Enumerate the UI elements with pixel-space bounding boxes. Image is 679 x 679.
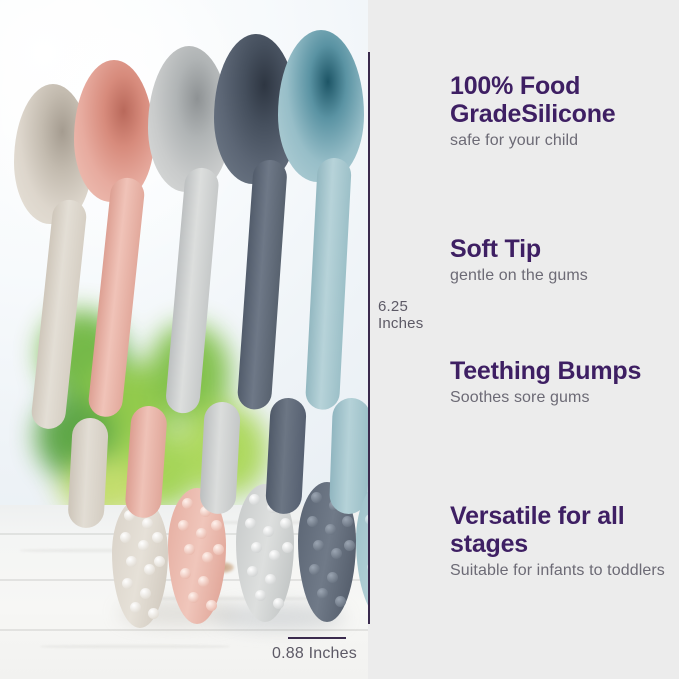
spoon-bowl xyxy=(278,30,364,182)
feature-title: Teething Bumps xyxy=(450,357,675,385)
height-measurement-line xyxy=(368,52,370,624)
product-feature-image: 6.25 Inches 0.88 Inches 100% Food GradeS… xyxy=(0,0,679,679)
feature-subtitle: Suitable for infants to toddlers xyxy=(450,561,675,581)
product-photo xyxy=(0,0,368,679)
feature-title: Versatile for all stages xyxy=(450,502,675,558)
feature-block-soft-tip: Soft Tip gentle on the gums xyxy=(450,235,675,286)
height-measurement-label: 6.25 Inches xyxy=(378,298,423,332)
feature-title: 100% Food GradeSilicone xyxy=(450,72,675,128)
feature-block-teething-bumps: Teething Bumps Soothes sore gums xyxy=(450,357,675,408)
width-measurement-line xyxy=(288,637,346,639)
feature-block-food-grade-silicone: 100% Food GradeSilicone safe for your ch… xyxy=(450,72,675,151)
feature-subtitle: Soothes sore gums xyxy=(450,388,675,408)
feature-subtitle: safe for your child xyxy=(450,131,675,151)
spoon-teal-blue xyxy=(0,0,368,679)
width-measurement-label: 0.88 Inches xyxy=(272,645,357,662)
spoon-handle xyxy=(305,157,352,410)
feature-block-versatile-all-stages: Versatile for all stages Suitable for in… xyxy=(450,502,675,581)
feature-title: Soft Tip xyxy=(450,235,675,263)
spoon-handle xyxy=(329,397,368,514)
feature-subtitle: gentle on the gums xyxy=(450,266,675,286)
